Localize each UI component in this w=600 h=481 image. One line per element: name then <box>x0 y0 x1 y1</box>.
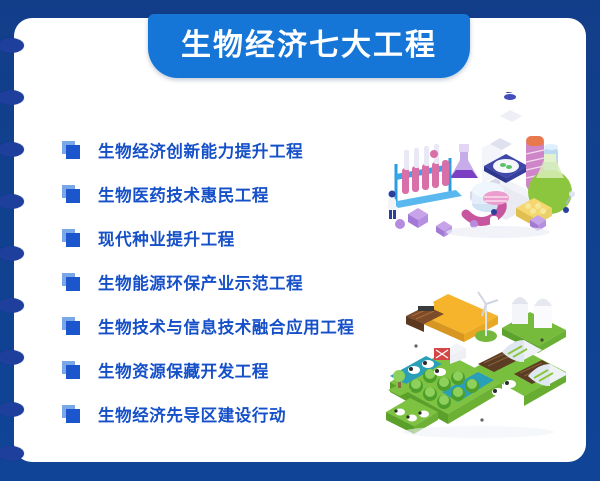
square-bullet-icon <box>62 141 82 159</box>
square-bullet-icon <box>62 273 82 291</box>
laboratory-illustration <box>378 92 578 242</box>
square-bullet-icon <box>62 229 82 247</box>
list-item-label: 生物技术与信息技术融合应用工程 <box>98 314 355 338</box>
poster-canvas: 生物经济七大工程 生物经济创新能力提升工程 生物医药技术惠民工程 现代种业提升工… <box>0 0 600 481</box>
square-bullet-icon <box>62 361 82 379</box>
list-item-label: 生物资源保藏开发工程 <box>98 358 269 382</box>
list-item[interactable]: 生物经济先导区建设行动 <box>62 392 392 436</box>
list-item[interactable]: 生物经济创新能力提升工程 <box>62 128 392 172</box>
list-item-label: 生物经济创新能力提升工程 <box>98 138 303 162</box>
square-bullet-icon <box>62 317 82 335</box>
square-bullet-icon <box>62 185 82 203</box>
list-item[interactable]: 生物医药技术惠民工程 <box>62 172 392 216</box>
farm-illustration <box>382 272 578 442</box>
title-banner: 生物经济七大工程 <box>148 14 470 78</box>
list-item[interactable]: 生物能源环保产业示范工程 <box>62 260 392 304</box>
spiral-ring <box>0 446 24 461</box>
list-item-label: 生物能源环保产业示范工程 <box>98 270 303 294</box>
list-item-label: 生物经济先导区建设行动 <box>98 402 286 426</box>
list-item-label: 生物医药技术惠民工程 <box>98 182 269 206</box>
list-item-label: 现代种业提升工程 <box>98 226 235 250</box>
list-item[interactable]: 生物资源保藏开发工程 <box>62 348 392 392</box>
page-title: 生物经济七大工程 <box>181 31 437 61</box>
list-item[interactable]: 现代种业提升工程 <box>62 216 392 260</box>
project-list: 生物经济创新能力提升工程 生物医药技术惠民工程 现代种业提升工程 生物能源环保产… <box>62 128 392 436</box>
list-item[interactable]: 生物技术与信息技术融合应用工程 <box>62 304 392 348</box>
square-bullet-icon <box>62 405 82 423</box>
